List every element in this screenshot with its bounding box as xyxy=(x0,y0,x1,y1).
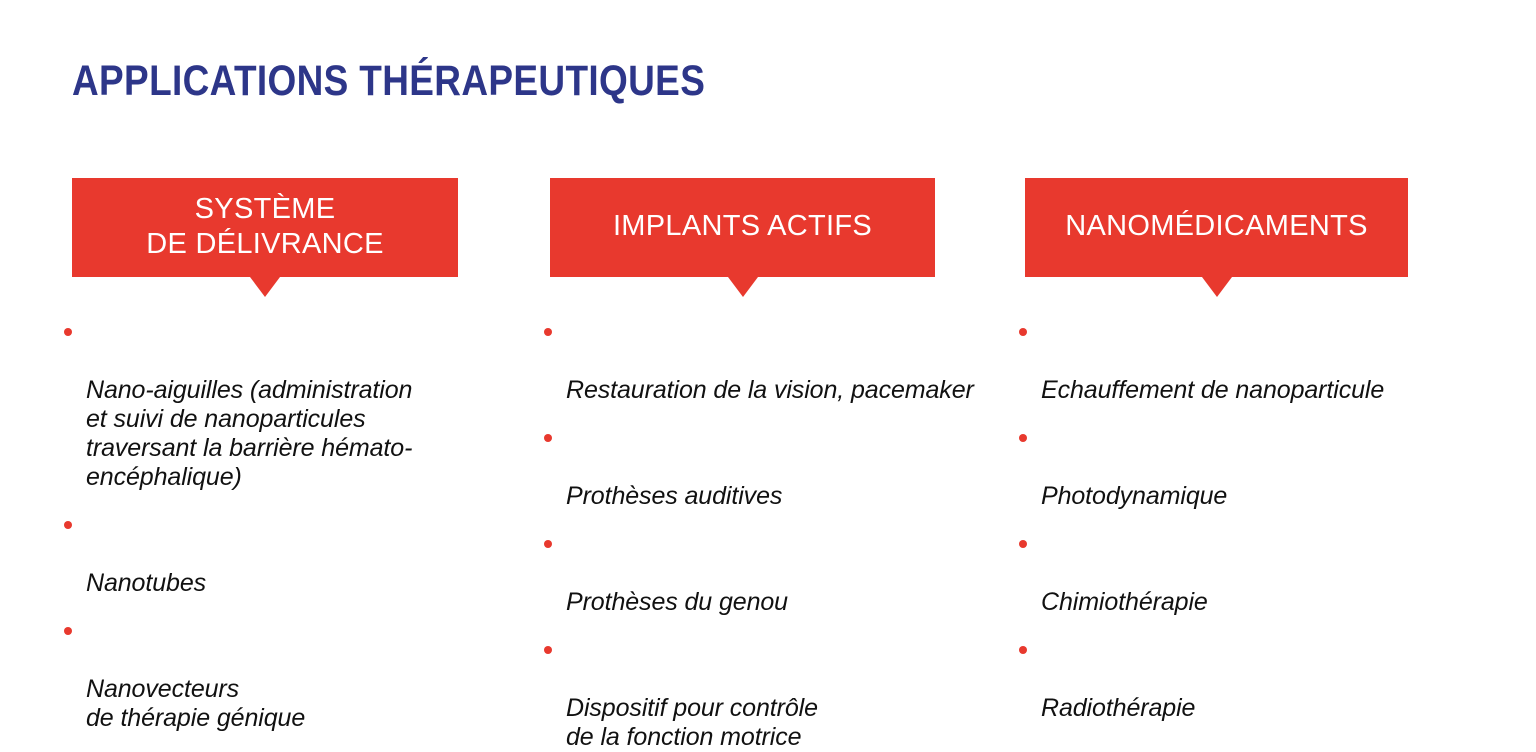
list-item: Prothèses du genou xyxy=(536,530,1016,617)
list-item-text: Radiothérapie xyxy=(1041,694,1195,722)
list-item-text: Nanovecteurs de thérapie génique xyxy=(86,675,305,732)
list-item-text: Restauration de la vision, pacemaker xyxy=(566,376,974,404)
column-header-banner-1: SYSTÈME DE DÉLIVRANCE xyxy=(72,178,458,277)
bullet-dot-icon xyxy=(64,521,72,529)
list-item: Nanovecteurs de thérapie génique xyxy=(56,617,486,733)
column-header-label-1: SYSTÈME DE DÉLIVRANCE xyxy=(72,192,458,262)
list-item: Radiothérapie xyxy=(1011,636,1481,723)
column-implants-actifs: IMPLANTS ACTIFS Restauration de la visio… xyxy=(550,178,935,277)
bullet-dot-icon xyxy=(544,646,552,654)
bullet-dot-icon xyxy=(544,434,552,442)
list-item-text: Prothèses du genou xyxy=(566,588,788,616)
list-item: Echauffement de nanoparticule xyxy=(1011,318,1481,405)
columns-container: SYSTÈME DE DÉLIVRANCE Nano-aiguilles (ad… xyxy=(0,0,1536,640)
list-item: Prothèses auditives xyxy=(536,424,1016,511)
column-systeme-de-delivrance: SYSTÈME DE DÉLIVRANCE Nano-aiguilles (ad… xyxy=(72,178,458,277)
bullet-dot-icon xyxy=(1019,328,1027,336)
bullet-list-1: Nano-aiguilles (administration et suivi … xyxy=(56,318,486,733)
column-header-banner-2: IMPLANTS ACTIFS xyxy=(550,178,935,277)
column-header-label-2: IMPLANTS ACTIFS xyxy=(550,209,935,244)
list-item-text: Prothèses auditives xyxy=(566,482,782,510)
list-item-text: Nanotubes xyxy=(86,569,206,597)
list-item: Restauration de la vision, pacemaker xyxy=(536,318,1016,405)
list-item: Dispositif pour contrôle de la fonction … xyxy=(536,636,1016,752)
column-header-label-3: NANOMÉDICAMENTS xyxy=(1025,209,1408,244)
list-item: Photodynamique xyxy=(1011,424,1481,511)
bullet-dot-icon xyxy=(544,540,552,548)
bullet-dot-icon xyxy=(1019,646,1027,654)
list-item: Nano-aiguilles (administration et suivi … xyxy=(56,318,486,492)
list-item-text: Echauffement de nanoparticule xyxy=(1041,376,1384,404)
list-item-text: Chimiothérapie xyxy=(1041,588,1208,616)
bullet-dot-icon xyxy=(544,328,552,336)
bullet-list-3: Echauffement de nanoparticule Photodynam… xyxy=(1011,318,1481,723)
list-item: Nanotubes xyxy=(56,511,486,598)
bullet-dot-icon xyxy=(1019,540,1027,548)
bullet-list-2: Restauration de la vision, pacemaker Pro… xyxy=(536,318,1016,752)
bullet-dot-icon xyxy=(64,627,72,635)
column-nanomedicaments: NANOMÉDICAMENTS Echauffement de nanopart… xyxy=(1025,178,1408,277)
list-item-text: Dispositif pour contrôle de la fonction … xyxy=(566,694,818,751)
bullet-dot-icon xyxy=(1019,434,1027,442)
bullet-dot-icon xyxy=(64,328,72,336)
column-header-banner-3: NANOMÉDICAMENTS xyxy=(1025,178,1408,277)
list-item-text: Photodynamique xyxy=(1041,482,1227,510)
list-item-text: Nano-aiguilles (administration et suivi … xyxy=(86,376,412,491)
list-item: Chimiothérapie xyxy=(1011,530,1481,617)
